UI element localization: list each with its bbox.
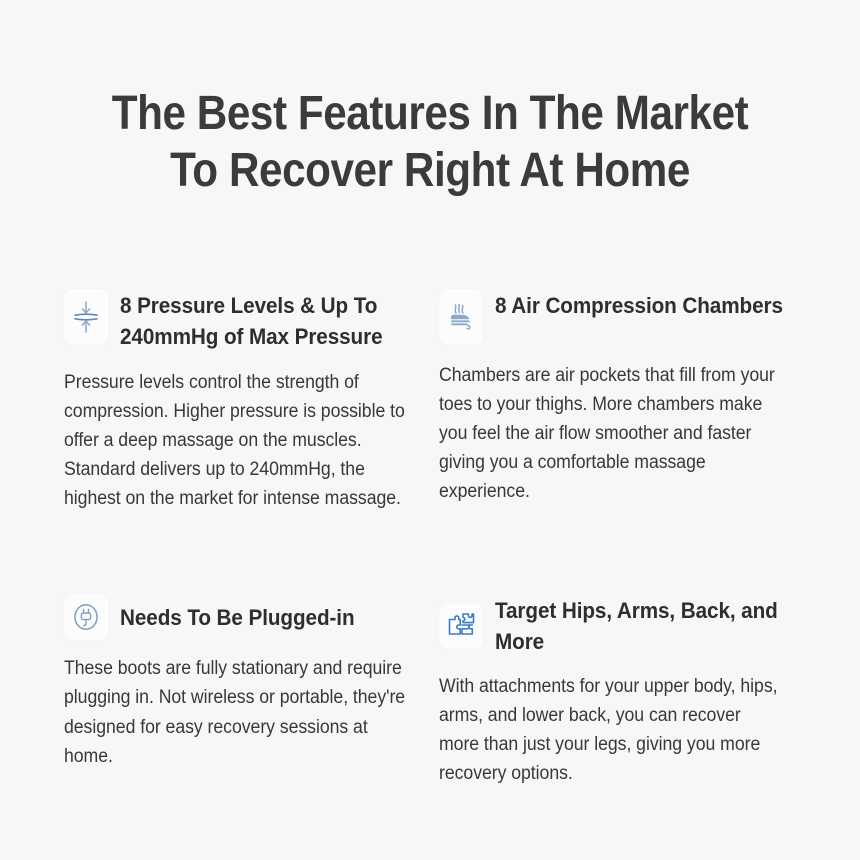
- puzzle-pieces-icon: [439, 603, 483, 649]
- feature-header: Needs To Be Plugged-in: [64, 593, 436, 640]
- feature-card-plugged-in: Needs To Be Plugged-in These boots are f…: [64, 593, 436, 787]
- feature-grid: 8 Pressure Levels & Up To 240mmHg of Max…: [0, 288, 860, 788]
- feature-title: Needs To Be Plugged-in: [120, 600, 355, 633]
- feature-title: Target Hips, Arms, Back, and More: [495, 593, 786, 657]
- page-title: The Best Features In The Market To Recov…: [52, 0, 809, 199]
- feature-card-target-areas: Target Hips, Arms, Back, and More With a…: [439, 593, 811, 787]
- feature-card-air-chambers: 8 Air Compression Chambers Chambers are …: [439, 288, 811, 513]
- feature-title: 8 Air Compression Chambers: [495, 288, 783, 321]
- feature-card-pressure-levels: 8 Pressure Levels & Up To 240mmHg of Max…: [64, 288, 436, 513]
- feature-description: Pressure levels control the strength of …: [64, 368, 410, 513]
- air-boot-steam-icon: [439, 289, 483, 345]
- features-page: The Best Features In The Market To Recov…: [0, 0, 860, 860]
- feature-header: Target Hips, Arms, Back, and More: [439, 593, 811, 657]
- feature-header: 8 Pressure Levels & Up To 240mmHg of Max…: [64, 288, 436, 352]
- power-plug-icon: [64, 594, 108, 640]
- feature-description: These boots are fully stationary and req…: [64, 654, 410, 770]
- feature-description: With attachments for your upper body, hi…: [439, 672, 785, 788]
- feature-header: 8 Air Compression Chambers: [439, 288, 811, 345]
- page-title-line-2: To Recover Right At Home: [104, 143, 755, 200]
- feature-title: 8 Pressure Levels & Up To 240mmHg of Max…: [120, 288, 411, 352]
- page-title-line-1: The Best Features In The Market: [104, 86, 755, 143]
- pressure-compression-icon: [64, 289, 108, 345]
- feature-description: Chambers are air pockets that fill from …: [439, 361, 785, 506]
